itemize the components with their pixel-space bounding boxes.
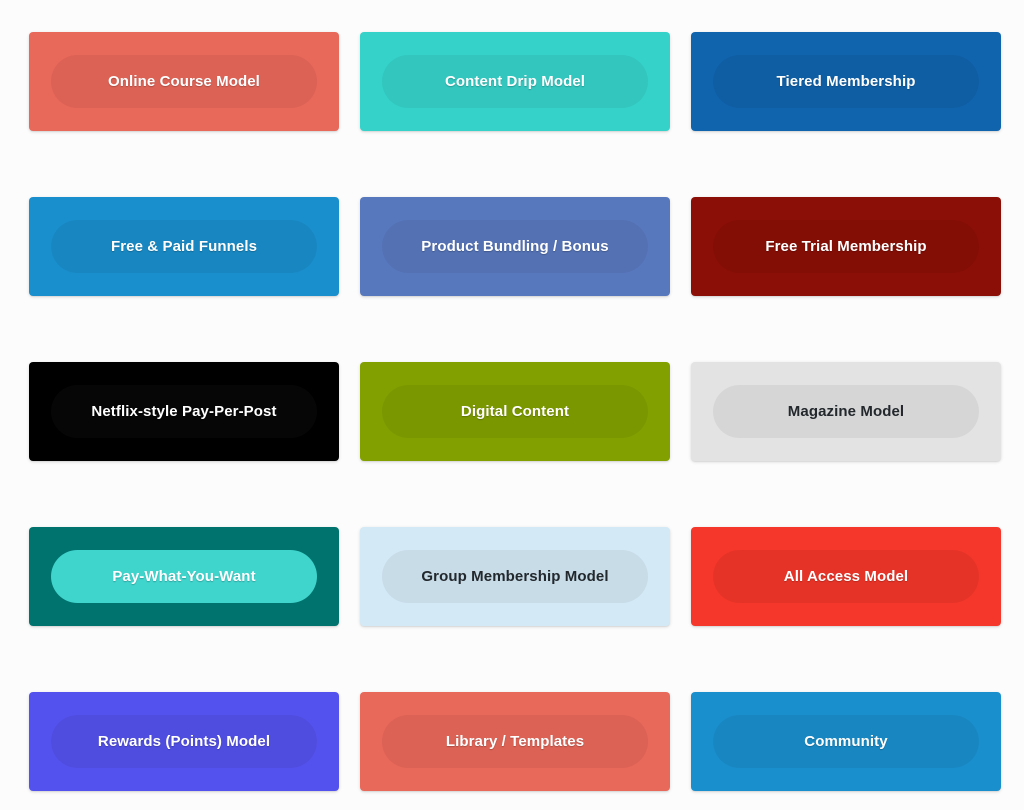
model-card[interactable]: Digital Content xyxy=(360,362,670,461)
model-card-label: Group Membership Model xyxy=(421,568,608,586)
model-card-label: Community xyxy=(804,733,887,751)
model-card-label: Online Course Model xyxy=(108,73,260,91)
card-pill-plate: Digital Content xyxy=(382,385,648,438)
card-pill-plate: Content Drip Model xyxy=(382,55,648,108)
card-pill-plate: Magazine Model xyxy=(713,385,979,438)
membership-model-grid: Online Course ModelContent Drip ModelTie… xyxy=(0,0,1024,810)
model-card-label: Library / Templates xyxy=(446,733,584,751)
card-pill-plate: Free & Paid Funnels xyxy=(51,220,317,273)
card-pill-plate: Pay-What-You-Want xyxy=(51,550,317,603)
model-card[interactable]: Free Trial Membership xyxy=(691,197,1001,296)
model-card-label: Product Bundling / Bonus xyxy=(421,238,608,256)
model-card[interactable]: Tiered Membership xyxy=(691,32,1001,131)
model-card[interactable]: Library / Templates xyxy=(360,692,670,791)
card-pill-plate: Library / Templates xyxy=(382,715,648,768)
model-card[interactable]: Group Membership Model xyxy=(360,527,670,626)
model-card[interactable]: Free & Paid Funnels xyxy=(29,197,339,296)
model-card[interactable]: Pay-What-You-Want xyxy=(29,527,339,626)
model-card[interactable]: Online Course Model xyxy=(29,32,339,131)
model-card[interactable]: Community xyxy=(691,692,1001,791)
card-pill-plate: Rewards (Points) Model xyxy=(51,715,317,768)
model-card[interactable]: Magazine Model xyxy=(691,362,1001,461)
model-card[interactable]: Content Drip Model xyxy=(360,32,670,131)
model-card-label: Netflix-style Pay-Per-Post xyxy=(91,403,276,421)
card-pill-plate: Netflix-style Pay-Per-Post xyxy=(51,385,317,438)
model-card-label: Free & Paid Funnels xyxy=(111,238,257,256)
card-pill-plate: Group Membership Model xyxy=(382,550,648,603)
card-pill-plate: Online Course Model xyxy=(51,55,317,108)
model-card-label: Magazine Model xyxy=(788,403,904,421)
card-pill-plate: Community xyxy=(713,715,979,768)
model-card-label: Rewards (Points) Model xyxy=(98,733,270,751)
model-card-label: Pay-What-You-Want xyxy=(112,568,255,586)
model-card[interactable]: Product Bundling / Bonus xyxy=(360,197,670,296)
model-card[interactable]: Rewards (Points) Model xyxy=(29,692,339,791)
model-card-label: All Access Model xyxy=(784,568,908,586)
model-card-label: Free Trial Membership xyxy=(765,238,926,256)
model-card[interactable]: All Access Model xyxy=(691,527,1001,626)
model-card-label: Digital Content xyxy=(461,403,569,421)
card-pill-plate: Tiered Membership xyxy=(713,55,979,108)
model-card[interactable]: Netflix-style Pay-Per-Post xyxy=(29,362,339,461)
card-pill-plate: All Access Model xyxy=(713,550,979,603)
card-pill-plate: Product Bundling / Bonus xyxy=(382,220,648,273)
model-card-label: Tiered Membership xyxy=(777,73,916,91)
model-card-label: Content Drip Model xyxy=(445,73,585,91)
card-pill-plate: Free Trial Membership xyxy=(713,220,979,273)
